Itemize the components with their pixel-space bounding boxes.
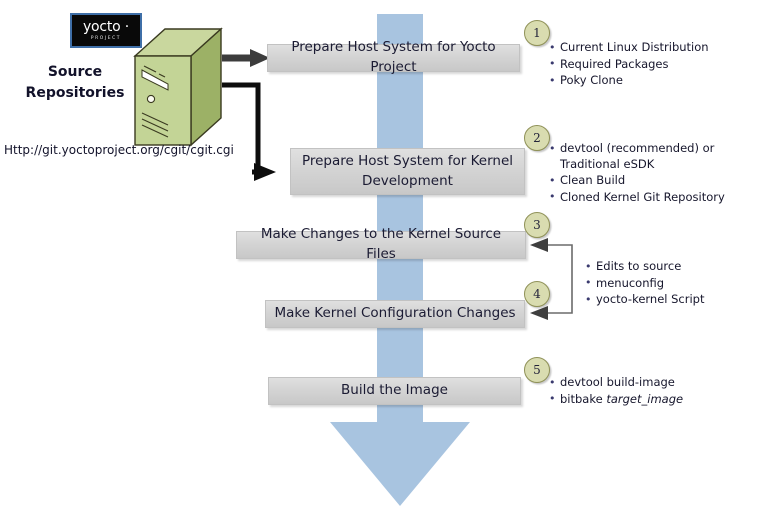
- step-box-4[interactable]: Make Kernel Configuration Changes: [265, 300, 525, 328]
- step-number-4-value: 4: [533, 287, 541, 301]
- step-number-1-value: 1: [533, 26, 541, 40]
- note-text: Current Linux Distribution: [560, 40, 709, 54]
- list-item: menuconfig: [584, 276, 764, 292]
- steps-3-4-notes: Edits to source menuconfig yocto-kernel …: [584, 259, 764, 309]
- note-text-italic: target_image: [606, 392, 683, 406]
- list-item: Required Packages: [548, 57, 763, 73]
- step-1-notes: Current Linux Distribution Required Pack…: [548, 40, 763, 90]
- note-text: devtool build-image: [560, 375, 675, 389]
- step-box-5[interactable]: Build the Image: [268, 377, 521, 405]
- step-number-3: 3: [524, 212, 550, 238]
- note-text: Cloned Kernel Git Repository: [560, 190, 725, 204]
- list-item: Poky Clone: [548, 73, 763, 89]
- step-box-5-label: Build the Image: [341, 381, 448, 401]
- step-box-3[interactable]: Make Changes to the Kernel Source Files: [236, 231, 526, 259]
- logo-secondary-text: PROJECT: [91, 37, 121, 41]
- logo-primary-text: yocto ·: [83, 20, 129, 34]
- note-text: yocto-kernel Script: [596, 292, 705, 306]
- note-text: Clean Build: [560, 173, 625, 187]
- note-text: devtool (recommended) or Traditional eSD…: [560, 141, 714, 171]
- source-repository-url: Http://git.yoctoproject.org/cgit/cgit.cg…: [4, 143, 234, 157]
- list-item: Cloned Kernel Git Repository: [548, 190, 760, 206]
- step-2-notes: devtool (recommended) or Traditional eSD…: [548, 141, 760, 206]
- list-item: yocto-kernel Script: [584, 292, 764, 308]
- list-item: Edits to source: [584, 259, 764, 275]
- note-text: menuconfig: [596, 276, 664, 290]
- server-icon: [132, 26, 224, 148]
- step-box-4-label: Make Kernel Configuration Changes: [274, 304, 515, 324]
- step-box-1-label: Prepare Host System for Yocto Project: [276, 38, 511, 77]
- list-item: devtool build-image: [548, 375, 758, 391]
- list-item: devtool (recommended) or Traditional eSD…: [548, 141, 760, 172]
- list-item: bitbake target_image: [548, 392, 758, 408]
- step-box-2[interactable]: Prepare Host System for Kernel Developme…: [290, 148, 525, 195]
- step-box-1[interactable]: Prepare Host System for Yocto Project: [267, 44, 520, 72]
- diagram-canvas: yocto · PROJECT Source Repositories Http…: [0, 0, 769, 517]
- step-box-3-label: Make Changes to the Kernel Source Files: [245, 225, 517, 264]
- step-number-5-value: 5: [533, 363, 541, 377]
- list-item: Current Linux Distribution: [548, 40, 763, 56]
- note-text: Edits to source: [596, 259, 681, 273]
- step-number-2: 2: [524, 125, 550, 151]
- list-item: Clean Build: [548, 173, 760, 189]
- step-number-2-value: 2: [533, 131, 541, 145]
- step-number-3-value: 3: [533, 218, 541, 232]
- step-box-2-label: Prepare Host System for Kernel Developme…: [299, 152, 516, 191]
- note-text: bitbake: [560, 392, 606, 406]
- step-5-notes: devtool build-image bitbake target_image: [548, 375, 758, 408]
- step-number-4: 4: [524, 281, 550, 307]
- step-number-5: 5: [524, 357, 550, 383]
- source-repositories-label: Source Repositories: [10, 62, 140, 104]
- source-label-line-2: Repositories: [10, 83, 140, 104]
- step-number-1: 1: [524, 20, 550, 46]
- source-label-line-1: Source: [10, 62, 140, 83]
- note-text: Required Packages: [560, 57, 669, 71]
- note-text: Poky Clone: [560, 73, 623, 87]
